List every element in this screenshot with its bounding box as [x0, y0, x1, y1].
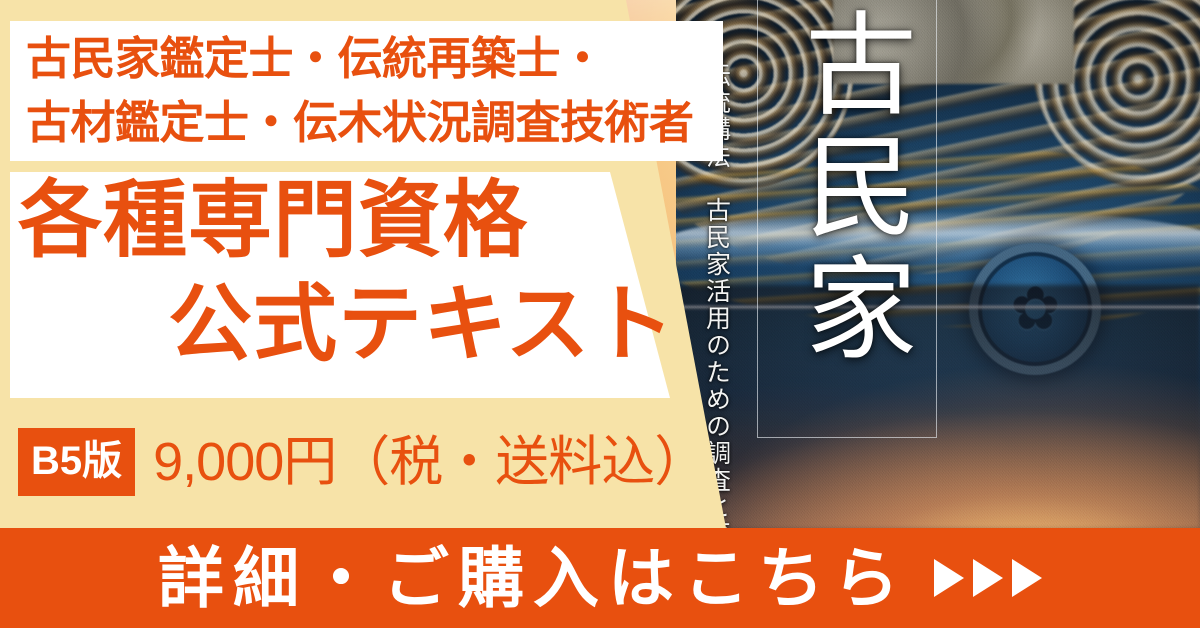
headline-text: 古民家鑑定士・伝統再築士・ 古材鑑定士・伝木状況調査技術者: [26, 27, 694, 155]
headline-panel: 古民家鑑定士・伝統再築士・ 古材鑑定士・伝木状況調査技術者: [10, 21, 723, 161]
size-badge: B5版: [18, 428, 135, 496]
book-cover-title: 古民家: [770, 6, 920, 372]
cta-arrow-group: [934, 559, 1042, 597]
triangle-right-icon: [934, 559, 964, 597]
cta-bar[interactable]: 詳細・ご購入はこちら: [0, 528, 1200, 628]
triangle-right-icon: [1012, 559, 1042, 597]
price-row: B5版 9,000円（税・送料込）: [18, 428, 707, 496]
title-line-secondary: 公式テキスト: [168, 282, 675, 366]
title-line-primary: 各種専門資格: [18, 178, 528, 262]
cta-label: 詳細・ご購入はこちら: [158, 545, 908, 611]
product-photo: ✿: [676, 0, 1200, 528]
photo-grain-texture: [676, 0, 1200, 528]
price-value: 9,000円（税・送料込）: [153, 435, 707, 489]
triangle-right-icon: [973, 559, 1003, 597]
